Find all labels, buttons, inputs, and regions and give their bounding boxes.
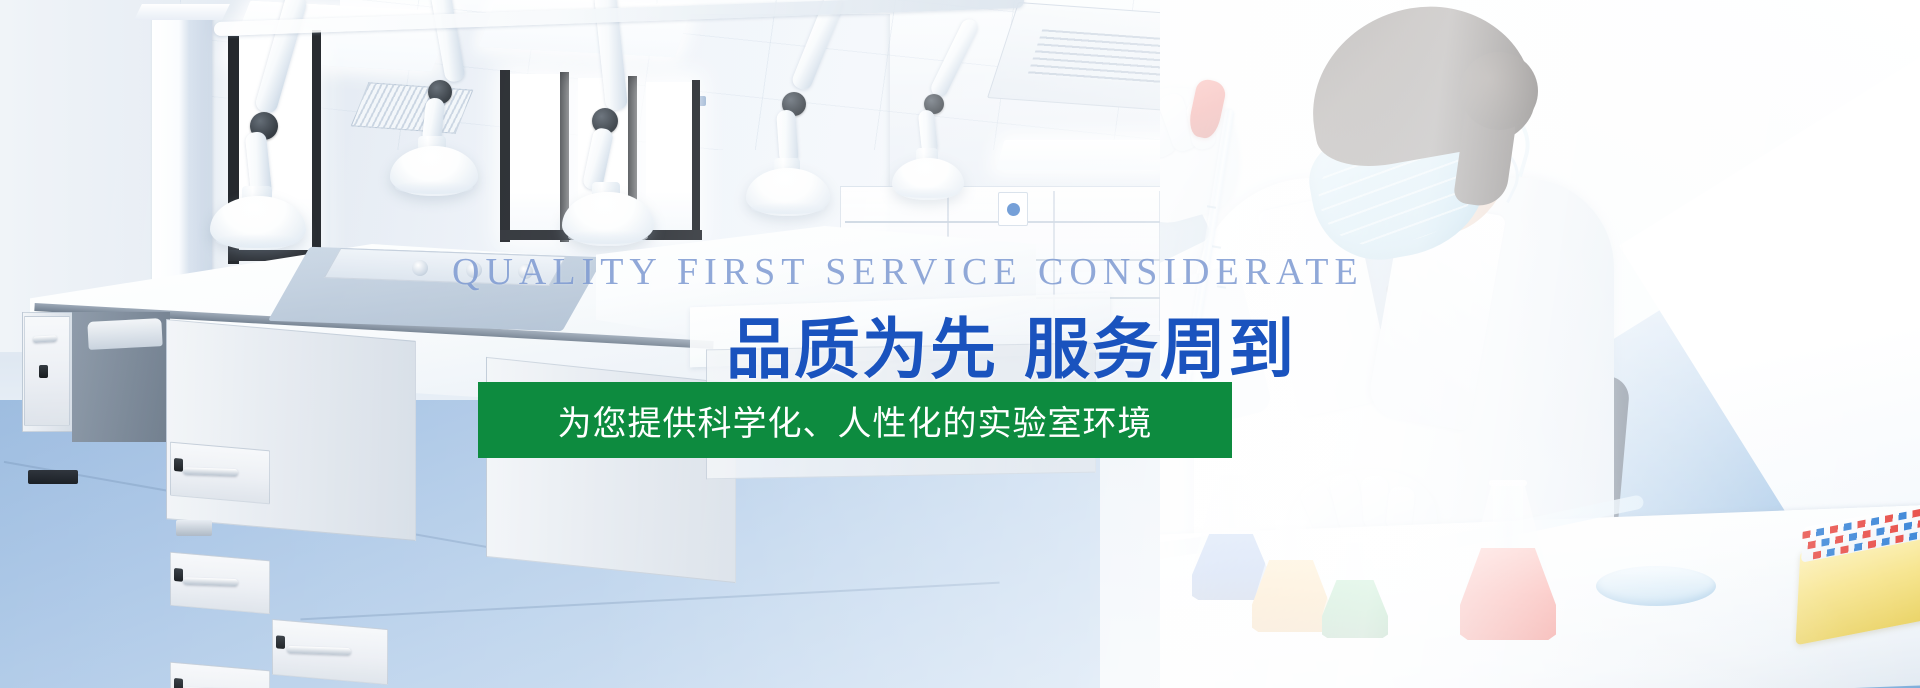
headline: 品质为先服务周到: [726, 296, 1296, 392]
english-tagline: QUALITY FIRST SERVICE CONSIDERATE: [452, 250, 1364, 294]
headline-left: 品质为先: [726, 312, 998, 386]
subtitle-text: 为您提供科学化、人性化的实验室环境: [558, 396, 1153, 445]
banner-text-overlay: QUALITY FIRST SERVICE CONSIDERATE 品质为先服务…: [0, 0, 1920, 688]
headline-right: 服务周到: [1024, 312, 1296, 386]
subtitle-band: 为您提供科学化、人性化的实验室环境: [478, 382, 1232, 458]
hero-banner: QUALITY FIRST SERVICE CONSIDERATE 品质为先服务…: [0, 0, 1920, 688]
